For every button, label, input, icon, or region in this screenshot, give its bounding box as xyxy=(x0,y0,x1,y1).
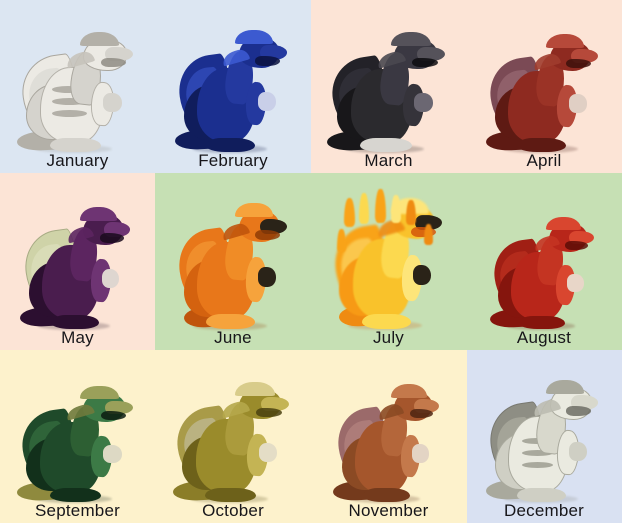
dragon-art-march xyxy=(311,0,466,152)
month-cell-august[interactable]: August xyxy=(466,173,622,350)
month-cell-september[interactable]: September xyxy=(0,350,155,523)
month-label-june: June xyxy=(155,329,311,350)
month-cell-november[interactable]: November xyxy=(311,350,466,523)
dragon-art-september xyxy=(0,350,155,502)
flame-dragon-figure xyxy=(333,201,445,329)
month-cell-april[interactable]: April xyxy=(466,0,622,173)
month-cell-january[interactable]: January xyxy=(0,0,155,173)
dragon-art-june xyxy=(155,173,311,329)
month-cell-june[interactable]: June xyxy=(155,173,311,350)
month-label-october: October xyxy=(155,502,311,523)
crimson-dragon-figure xyxy=(488,36,600,152)
dragon-art-april xyxy=(466,0,622,152)
month-cell-october[interactable]: October xyxy=(155,350,311,523)
month-label-march: March xyxy=(311,152,466,173)
month-label-may: May xyxy=(0,329,155,350)
month-label-december: December xyxy=(466,502,622,523)
ember-griffin-dragon-figure xyxy=(177,205,289,329)
dragon-art-may xyxy=(0,173,155,329)
month-cell-march[interactable]: March xyxy=(311,0,466,173)
bone-dragon-figure xyxy=(20,34,136,152)
amethyst-dragon-figure xyxy=(23,209,133,329)
gold-dragon-figure xyxy=(175,384,291,502)
month-cell-february[interactable]: February xyxy=(155,0,311,173)
dragon-month-poster: January February xyxy=(0,0,622,523)
forest-dragon-figure xyxy=(20,388,136,502)
month-cell-may[interactable]: May xyxy=(0,173,155,350)
scarlet-dragon-figure xyxy=(492,219,596,329)
month-label-april: April xyxy=(466,152,622,173)
dragon-art-august xyxy=(466,173,622,329)
month-label-september: September xyxy=(0,502,155,523)
copper-dragon-figure xyxy=(336,386,442,502)
dragon-art-february xyxy=(155,0,311,152)
dragon-art-december xyxy=(466,350,622,502)
dragon-art-january xyxy=(0,0,155,152)
month-label-february: February xyxy=(155,152,311,173)
dragon-art-july xyxy=(311,173,466,329)
sapphire-dragon-figure xyxy=(177,32,289,152)
ivory-bone-dragon-figure xyxy=(488,382,600,502)
month-label-july: July xyxy=(311,329,466,350)
month-label-august: August xyxy=(466,329,622,350)
month-cell-december[interactable]: December xyxy=(466,350,622,523)
shadow-dragon-figure xyxy=(330,34,448,152)
dragon-art-november xyxy=(311,350,466,502)
dragon-art-october xyxy=(155,350,311,502)
month-label-january: January xyxy=(0,152,155,173)
month-cell-july[interactable]: July xyxy=(311,173,466,350)
month-label-november: November xyxy=(311,502,466,523)
